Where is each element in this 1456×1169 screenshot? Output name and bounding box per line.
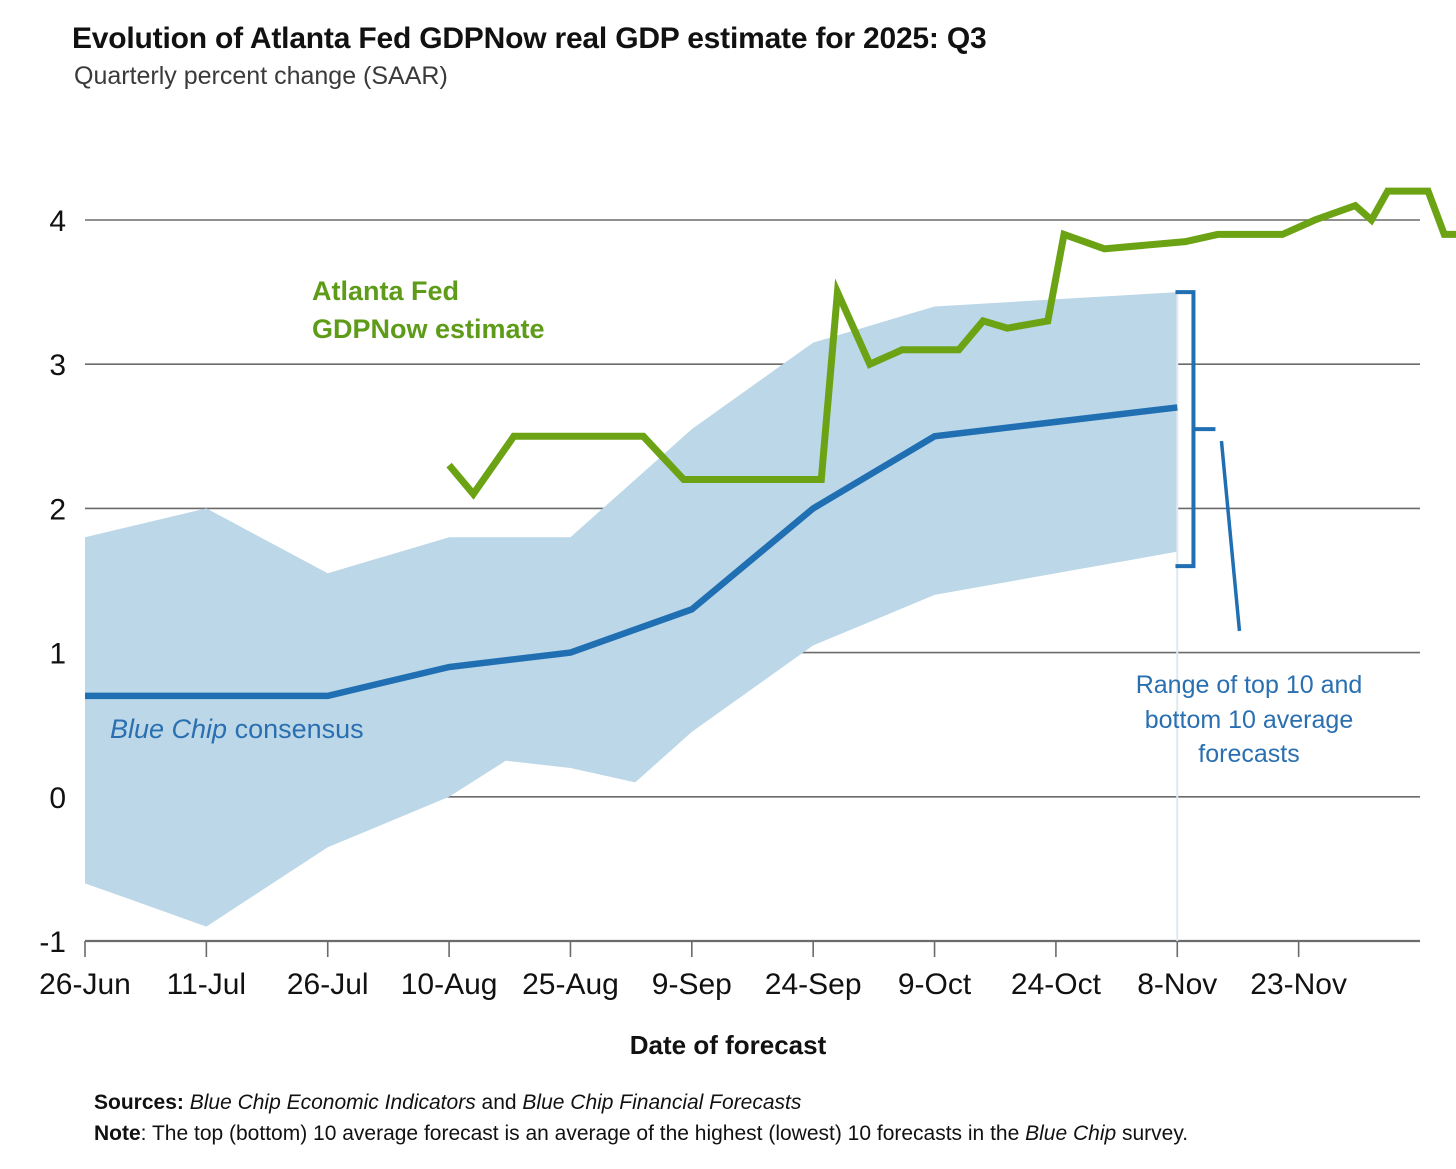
sources-line: Sources: Blue Chip Economic Indicators a… [94, 1087, 1188, 1118]
y-tick-label: -1 [39, 926, 66, 959]
x-tick-label: 26-Jul [287, 968, 369, 1001]
x-tick-label: 8-Nov [1137, 968, 1217, 1001]
x-tick-label: 23-Nov [1250, 968, 1347, 1001]
note-text-part1: : The top (bottom) 10 average forecast i… [141, 1122, 1025, 1145]
x-tick-label: 9-Sep [652, 968, 732, 1001]
y-tick-label: 3 [49, 349, 66, 382]
x-tick-label: 11-Jul [167, 968, 246, 1001]
x-axis-title: Date of forecast [0, 1030, 1456, 1061]
note-label: Note [94, 1122, 141, 1145]
range-annotation-line3: forecasts [1104, 737, 1394, 772]
range-annotation-line2: bottom 10 average [1104, 703, 1394, 738]
note-italic: Blue Chip [1025, 1122, 1116, 1145]
chart-canvas: -101234 26-Jun11-Jul26-Jul10-Aug25-Aug9-… [0, 0, 1456, 1010]
bluechip-annotation-italic: Blue Chip [110, 714, 227, 744]
range-bracket [1175, 292, 1239, 631]
sources-publication-a: Blue Chip Economic Indicators [190, 1091, 476, 1114]
x-tick-label: 10-Aug [401, 968, 498, 1001]
y-tick-label: 2 [49, 493, 66, 526]
x-tick-label: 26-Jun [39, 968, 131, 1001]
x-axis [85, 941, 1299, 957]
range-annotation: Range of top 10 and bottom 10 average fo… [1104, 668, 1394, 772]
y-tick-labels: -101234 [39, 205, 66, 959]
y-tick-label: 0 [49, 782, 66, 815]
gdpnow-annotation-line2: GDPNow estimate [312, 310, 545, 348]
sources-label: Sources: [94, 1091, 184, 1114]
sources-conjunction: and [476, 1091, 523, 1114]
note-line: Note: The top (bottom) 10 average foreca… [94, 1118, 1188, 1149]
chart-figure: Evolution of Atlanta Fed GDPNow real GDP… [0, 0, 1456, 1169]
gdpnow-annotation-line1: Atlanta Fed [312, 272, 545, 310]
plot-area: -101234 26-Jun11-Jul26-Jul10-Aug25-Aug9-… [0, 0, 1456, 1010]
y-tick-label: 4 [49, 205, 66, 238]
x-tick-label: 9-Oct [898, 968, 972, 1001]
bluechip-annotation-rest: consensus [227, 714, 364, 744]
x-tick-label: 25-Aug [522, 968, 619, 1001]
note-text-part2: survey. [1116, 1122, 1188, 1145]
y-tick-label: 1 [49, 638, 66, 671]
forecast-range-band [85, 292, 1177, 941]
footer-notes: Sources: Blue Chip Economic Indicators a… [94, 1087, 1188, 1149]
x-tick-labels: 26-Jun11-Jul26-Jul10-Aug25-Aug9-Sep24-Se… [39, 968, 1347, 1001]
x-tick-label: 24-Oct [1011, 968, 1102, 1001]
sources-publication-b: Blue Chip Financial Forecasts [522, 1091, 801, 1114]
range-annotation-line1: Range of top 10 and [1104, 668, 1394, 703]
gdpnow-annotation: Atlanta Fed GDPNow estimate [312, 272, 545, 349]
bluechip-annotation: Blue Chip consensus [110, 714, 364, 745]
x-tick-label: 24-Sep [765, 968, 862, 1001]
